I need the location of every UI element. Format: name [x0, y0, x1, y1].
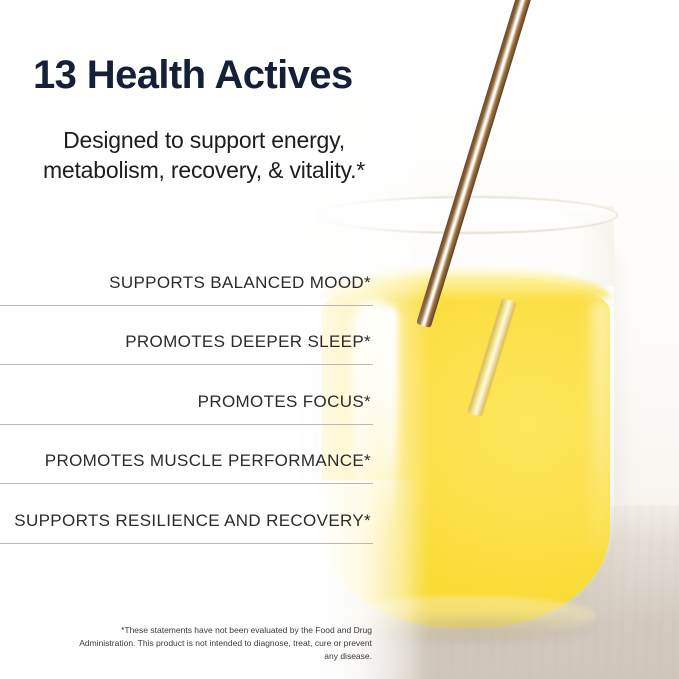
- list-item: PROMOTES MUSCLE PERFORMANCE*: [0, 425, 373, 485]
- claim-label: SUPPORTS BALANCED MOOD*: [109, 273, 371, 293]
- fda-disclaimer: *These statements have not been evaluate…: [72, 624, 372, 664]
- list-item: PROMOTES DEEPER SLEEP*: [0, 306, 373, 366]
- list-item: PROMOTES FOCUS*: [0, 365, 373, 425]
- claim-label: SUPPORTS RESILIENCE AND RECOVERY*: [14, 511, 371, 531]
- claim-label: PROMOTES MUSCLE PERFORMANCE*: [45, 451, 371, 471]
- claim-label: PROMOTES DEEPER SLEEP*: [125, 332, 371, 352]
- claim-label: PROMOTES FOCUS*: [198, 392, 371, 412]
- list-item: SUPPORTS RESILIENCE AND RECOVERY*: [0, 484, 373, 544]
- benefit-claims-list: SUPPORTS BALANCED MOOD* PROMOTES DEEPER …: [0, 246, 373, 544]
- product-benefits-infographic: 13 Health Actives Designed to support en…: [0, 0, 679, 679]
- content-layer: 13 Health Actives Designed to support en…: [0, 0, 679, 679]
- subtitle: Designed to support energy, metabolism, …: [33, 126, 375, 186]
- page-title: 13 Health Actives: [33, 54, 353, 97]
- list-item: SUPPORTS BALANCED MOOD*: [0, 246, 373, 306]
